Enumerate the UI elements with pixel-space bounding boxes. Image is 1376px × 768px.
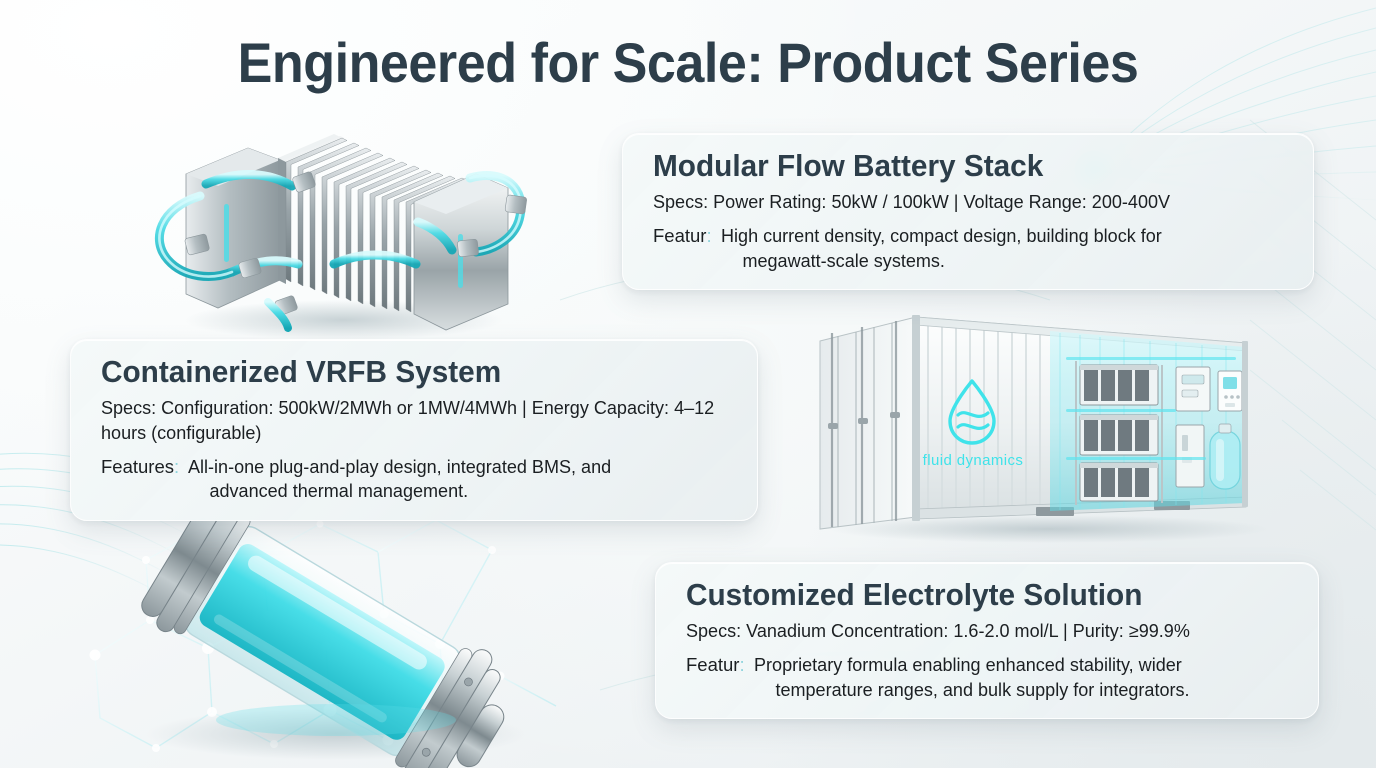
card-title: Containerized VRFB System bbox=[101, 354, 710, 390]
product-card-customized-electrolyte-solution[interactable]: Customized Electrolyte Solution Specs: V… bbox=[655, 562, 1319, 719]
card-features-label: Featur: bbox=[653, 224, 712, 274]
customized-electrolyte-solution-photo bbox=[86, 520, 556, 768]
card-features-row: Features: All-in-one plug-and-play desig… bbox=[101, 455, 735, 505]
features-line-1: Proprietary formula enabling enhanced st… bbox=[754, 654, 1182, 675]
battery-racks bbox=[1076, 361, 1162, 505]
features-line-2: temperature ranges, and bulk supply for … bbox=[754, 678, 1190, 703]
features-colon: : bbox=[739, 654, 744, 675]
card-features-text: Proprietary formula enabling enhanced st… bbox=[754, 653, 1190, 703]
product-card-modular-flow-battery-stack[interactable]: Modular Flow Battery Stack Specs: Power … bbox=[622, 133, 1314, 290]
containerized-vrfb-system-photo: fluid dynamics bbox=[798, 305, 1286, 543]
container-doors bbox=[820, 317, 916, 529]
slide-canvas: Engineered for Scale: Product Series bbox=[0, 0, 1376, 768]
card-title: Modular Flow Battery Stack bbox=[653, 148, 1265, 184]
card-features-label: Featur: bbox=[686, 653, 745, 703]
card-features-row: Featur: Proprietary formula enabling enh… bbox=[686, 653, 1296, 703]
fluid-dynamics-brand-text: fluid dynamics bbox=[923, 452, 1024, 469]
features-line-1: High current density, compact design, bu… bbox=[721, 225, 1162, 246]
features-line-2: advanced thermal management. bbox=[188, 479, 611, 504]
card-specs: Specs: Configuration: 500kW/2MWh or 1MW/… bbox=[101, 396, 719, 446]
card-specs: Specs: Vanadium Concentration: 1.6-2.0 m… bbox=[686, 619, 1281, 644]
card-title: Customized Electrolyte Solution bbox=[686, 577, 1272, 613]
card-features-row: Featur: High current density, compact de… bbox=[653, 224, 1291, 274]
card-features-text: All-in-one plug-and-play design, integra… bbox=[188, 455, 611, 505]
card-specs: Specs: Power Rating: 50kW / 100kW | Volt… bbox=[653, 190, 1275, 215]
features-colon: : bbox=[706, 225, 711, 246]
page-title: Engineered for Scale: Product Series bbox=[48, 34, 1328, 92]
card-features-text: High current density, compact design, bu… bbox=[721, 224, 1162, 274]
features-line-2: megawatt-scale systems. bbox=[721, 249, 1162, 274]
features-colon: : bbox=[174, 456, 179, 477]
card-features-label: Features: bbox=[101, 455, 179, 505]
features-line-1: All-in-one plug-and-play design, integra… bbox=[188, 456, 611, 477]
product-card-containerized-vrfb-system[interactable]: Containerized VRFB System Specs: Configu… bbox=[70, 339, 758, 521]
modular-flow-battery-stack-photo bbox=[128, 112, 548, 342]
hmi-panel bbox=[1218, 371, 1242, 411]
